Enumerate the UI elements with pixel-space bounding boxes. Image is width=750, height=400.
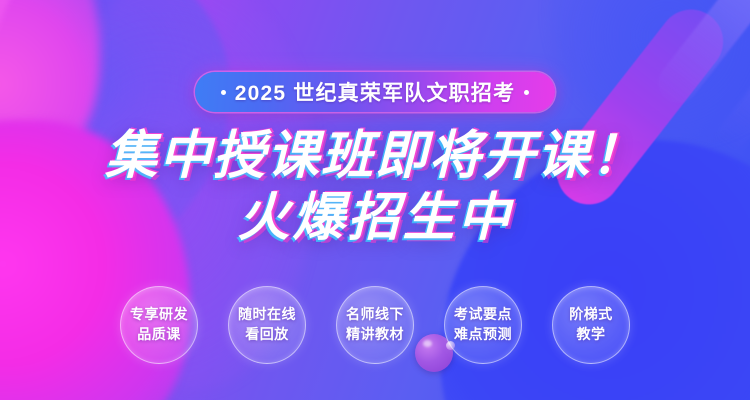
promo-banner: 2025 世纪真荣军队文职招考 集中授课班即将开课！ 火爆招生中 专享研发 品质… (0, 0, 750, 400)
promo-badge-label: 2025 世纪真荣军队文职招考 (235, 77, 516, 107)
feature-bubble-5-line-1: 阶梯式 (569, 306, 613, 324)
feature-bubble-2-line-2: 看回放 (245, 326, 289, 344)
feature-bubble-3-line-1: 名师线下 (346, 306, 404, 324)
promo-badge: 2025 世纪真荣军队文职招考 (195, 72, 556, 112)
headline-line-2: 火爆招生中 (237, 190, 512, 246)
feature-bubble-list: 专享研发 品质课 随时在线 看回放 名师线下 精讲教材 考试要点 难点预测 阶梯… (0, 286, 750, 364)
feature-bubble-4-line-2: 难点预测 (454, 326, 512, 344)
feature-bubble-3[interactable]: 名师线下 精讲教材 (336, 286, 414, 364)
dot-icon-right (524, 90, 529, 95)
feature-bubble-2[interactable]: 随时在线 看回放 (228, 286, 306, 364)
feature-bubble-2-line-1: 随时在线 (238, 306, 296, 324)
feature-bubble-4[interactable]: 考试要点 难点预测 (444, 286, 522, 364)
dot-icon-left (221, 90, 226, 95)
headline-line-1: 集中授课班即将开课！ (105, 128, 645, 184)
feature-bubble-3-line-2: 精讲教材 (346, 326, 404, 344)
banner-content: 2025 世纪真荣军队文职招考 集中授课班即将开课！ 火爆招生中 专享研发 品质… (0, 0, 750, 400)
feature-bubble-5[interactable]: 阶梯式 教学 (552, 286, 630, 364)
feature-bubble-1[interactable]: 专享研发 品质课 (120, 286, 198, 364)
feature-bubble-4-line-1: 考试要点 (454, 306, 512, 324)
feature-bubble-1-line-1: 专享研发 (130, 306, 188, 324)
feature-bubble-5-line-2: 教学 (577, 326, 606, 344)
feature-bubble-1-line-2: 品质课 (137, 326, 181, 344)
